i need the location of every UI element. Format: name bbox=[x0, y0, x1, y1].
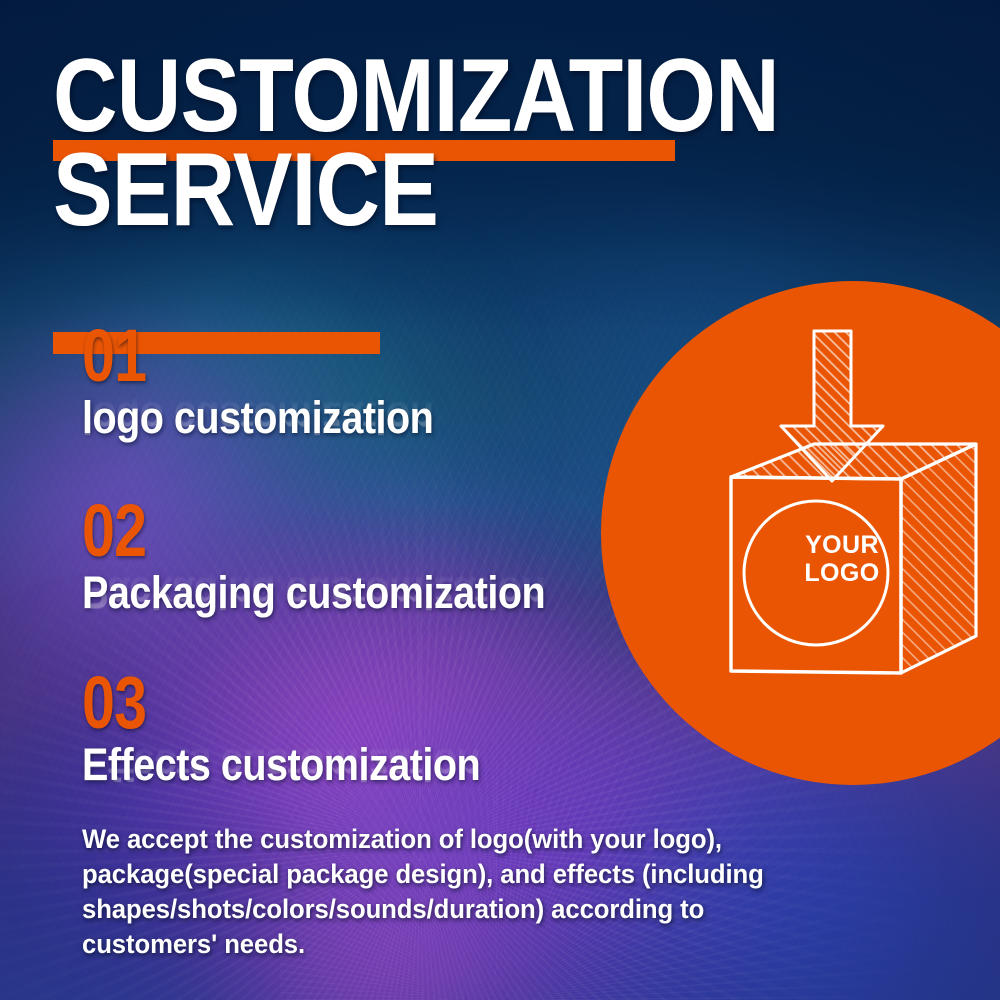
feature-number-01: 01 bbox=[82, 325, 146, 387]
banner-header: CUSTOMIZATION SERVICE bbox=[53, 48, 733, 226]
feature-label-03-wrap: Effects customization Effects customizat… bbox=[82, 742, 162, 788]
feature-label-02-wrap: Packaging customization Packaging custom… bbox=[82, 570, 162, 616]
box-right-face bbox=[901, 444, 976, 673]
description-line-4: customers' needs. bbox=[82, 927, 829, 962]
feature-item-02: 02 Packaging customization Packaging cus… bbox=[82, 500, 162, 616]
feature-label-01-wrap: logo customization logo customization bbox=[82, 395, 162, 441]
feature-label-02-reflection: Packaging customization bbox=[82, 570, 545, 615]
title-line-1-row: CUSTOMIZATION bbox=[53, 48, 733, 144]
feature-item-01: 01 logo customization logo customization bbox=[82, 325, 162, 441]
feature-label-01-reflection: logo customization bbox=[82, 395, 433, 440]
feature-number-02: 02 bbox=[82, 500, 146, 562]
title-line-2-row: SERVICE bbox=[53, 142, 733, 226]
your-logo-text: YOUR LOGO bbox=[781, 531, 903, 587]
description-line-1: We accept the customization of logo(with… bbox=[82, 822, 829, 857]
feature-item-03: 03 Effects customization Effects customi… bbox=[82, 672, 162, 788]
customization-service-banner: CUSTOMIZATION SERVICE 01 logo customizat… bbox=[0, 0, 1000, 1000]
description-line-3: shapes/shots/colors/sounds/duration) acc… bbox=[82, 892, 829, 927]
description-paragraph: We accept the customization of logo(with… bbox=[82, 822, 829, 962]
feature-number-03: 03 bbox=[82, 672, 146, 734]
your-logo-line-1: YOUR bbox=[781, 531, 903, 559]
feature-label-03-reflection: Effects customization bbox=[82, 742, 480, 787]
page-title-line-1: CUSTOMIZATION bbox=[53, 48, 779, 144]
description-line-2: package(special package design), and eff… bbox=[82, 857, 829, 892]
page-title-line-2: SERVICE bbox=[53, 142, 438, 238]
your-logo-line-2: LOGO bbox=[781, 559, 903, 587]
